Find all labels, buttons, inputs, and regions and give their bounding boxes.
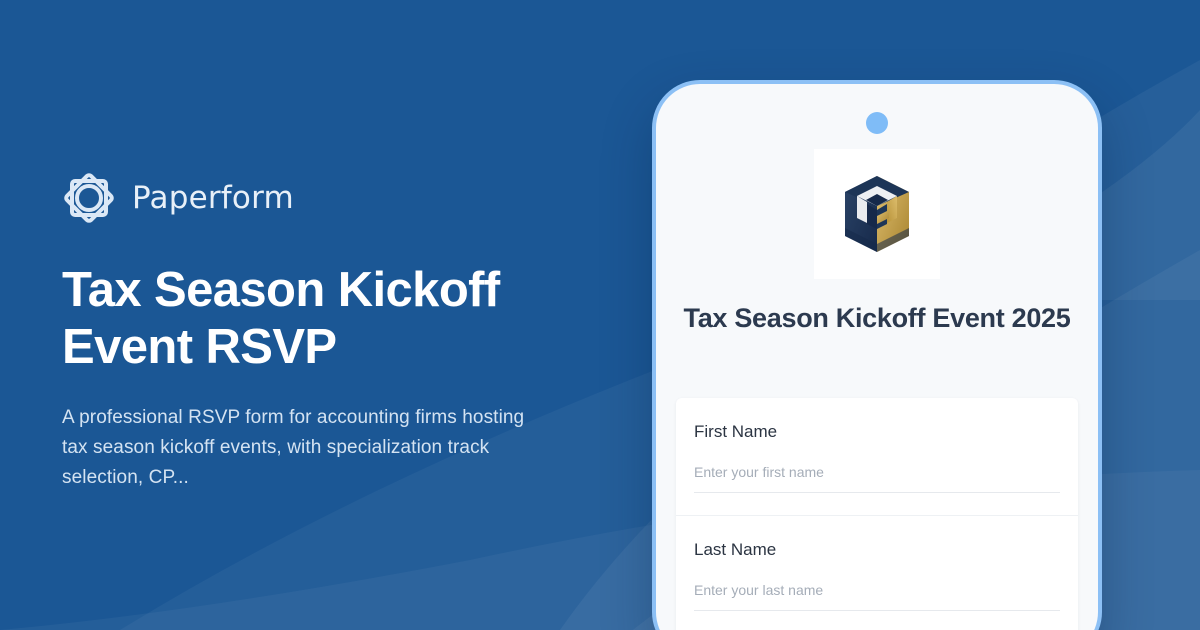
field-label-first-name: First Name [694, 422, 1060, 442]
first-name-input[interactable]: Enter your first name [694, 464, 1060, 493]
brand-lockup: Paperform [62, 168, 582, 228]
brand-name: Paperform [132, 183, 294, 214]
camera-dot-icon [866, 112, 888, 134]
page-description: A professional RSVP form for accounting … [62, 403, 532, 494]
promo-banner: Paperform Tax Season Kickoff Event RSVP … [0, 0, 1200, 630]
form-field-last-name: Last Name Enter your last name [676, 516, 1078, 611]
hero-content: Paperform Tax Season Kickoff Event RSVP … [62, 168, 582, 493]
paperform-logo-icon [62, 171, 116, 225]
form-title: Tax Season Kickoff Event 2025 [656, 302, 1098, 334]
phone-mockup: Tax Season Kickoff Event 2025 First Name… [652, 80, 1102, 630]
form-logo-container [814, 149, 940, 279]
form-card: First Name Enter your first name Last Na… [676, 398, 1078, 630]
cube-logo-icon [839, 172, 915, 256]
last-name-input[interactable]: Enter your last name [694, 582, 1060, 611]
form-field-first-name: First Name Enter your first name [676, 398, 1078, 516]
page-title: Tax Season Kickoff Event RSVP [62, 262, 532, 377]
field-label-last-name: Last Name [694, 540, 1060, 560]
